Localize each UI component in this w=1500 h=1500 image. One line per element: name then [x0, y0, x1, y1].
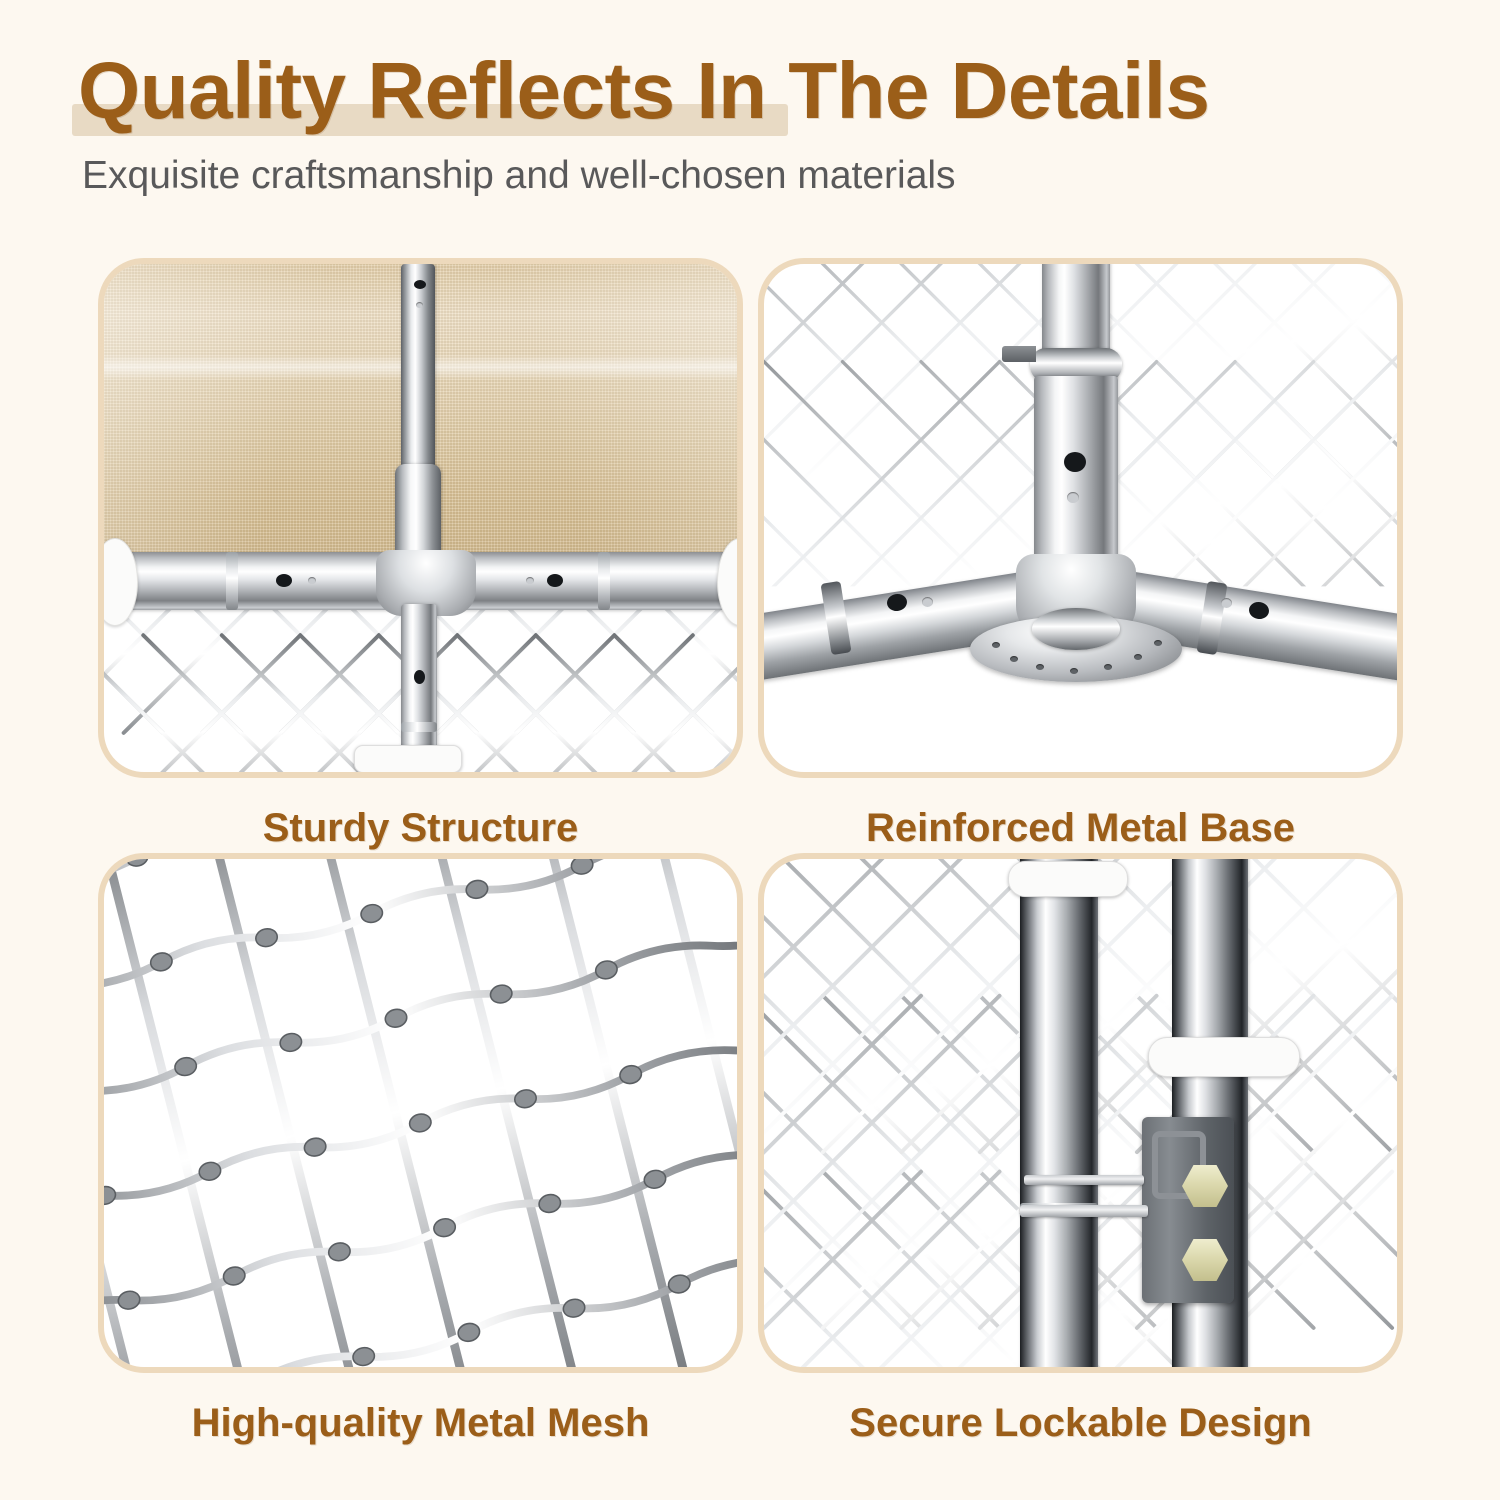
feature-image-reinforced-metal-base	[758, 258, 1403, 778]
feature-caption-reinforced-metal-base: Reinforced Metal Base	[758, 778, 1403, 856]
header: Quality Reflects In The Details Exquisit…	[0, 0, 1500, 230]
post-hole	[1064, 452, 1086, 472]
flange-bolt-hole-5	[1104, 664, 1112, 670]
feature-card-reinforced-metal-base: Reinforced Metal Base	[758, 258, 1403, 856]
flange-bolt-hole-7	[1154, 640, 1162, 646]
rail-band-left	[226, 552, 238, 610]
feature-image-secure-lockable-design	[758, 853, 1403, 1373]
page-title-wrap: Quality Reflects In The Details	[78, 48, 1210, 134]
scene-sturdy-structure	[104, 264, 737, 772]
tarp-right-sheen	[421, 264, 738, 569]
post-top-cap	[1008, 861, 1128, 897]
feature-caption-secure-lockable-design: Secure Lockable Design	[758, 1373, 1403, 1451]
corner-post-lower	[1034, 376, 1118, 576]
gate-post-left	[1020, 853, 1098, 1373]
feature-caption-high-quality-metal-mesh: High-quality Metal Mesh	[98, 1373, 743, 1451]
feature-card-secure-lockable-design: Secure Lockable Design	[758, 853, 1403, 1451]
flange-bolt-hole-6	[1134, 654, 1142, 660]
feature-image-high-quality-metal-mesh	[98, 853, 743, 1373]
flange-bolt-hole-1	[992, 642, 1000, 648]
rail-rivet-left	[922, 597, 933, 607]
scene-secure-lockable-design	[764, 859, 1397, 1367]
feature-card-sturdy-structure: Sturdy Structure	[98, 258, 743, 856]
post-rivet	[1067, 492, 1079, 503]
page-title: Quality Reflects In The Details	[78, 48, 1210, 134]
base-hub-collar	[1032, 608, 1120, 650]
latch-arm-lower	[1020, 1205, 1148, 1217]
feature-image-sturdy-structure	[98, 258, 743, 778]
flange-bolt-hole-3	[1036, 664, 1044, 670]
vertical-pole-upper	[401, 264, 435, 496]
rail-band-right	[598, 552, 610, 610]
pole-hole-top	[414, 280, 426, 289]
plastic-clip	[354, 745, 462, 773]
scene-reinforced-metal-base	[764, 264, 1397, 772]
lower-pole-hole	[414, 670, 425, 684]
scene-high-quality-metal-mesh	[104, 859, 737, 1367]
tarp-left-sheen	[104, 264, 421, 569]
pole-rivet-top	[416, 302, 423, 308]
rail-hole-left	[276, 574, 292, 587]
collar-tab	[1002, 346, 1036, 362]
lower-pole-band	[401, 722, 437, 732]
rail-rivet-left	[308, 577, 316, 584]
flange-bolt-hole-4	[1070, 668, 1078, 674]
feature-card-high-quality-metal-mesh: High-quality Metal Mesh	[98, 853, 743, 1451]
rail-rivet-right	[1221, 598, 1232, 608]
feature-caption-sturdy-structure: Sturdy Structure	[98, 778, 743, 856]
chain-link-mesh-closeup-graphic	[104, 859, 737, 1367]
page-subtitle: Exquisite craftsmanship and well-chosen …	[82, 152, 956, 200]
rail-rivet-right	[526, 577, 534, 584]
rail-hole-right	[547, 574, 563, 587]
post-ring-clip	[1148, 1037, 1300, 1077]
flange-bolt-hole-2	[1010, 656, 1018, 662]
latch-arm-upper	[1024, 1175, 1144, 1185]
feature-grid: Sturdy Structure	[0, 258, 1500, 1468]
